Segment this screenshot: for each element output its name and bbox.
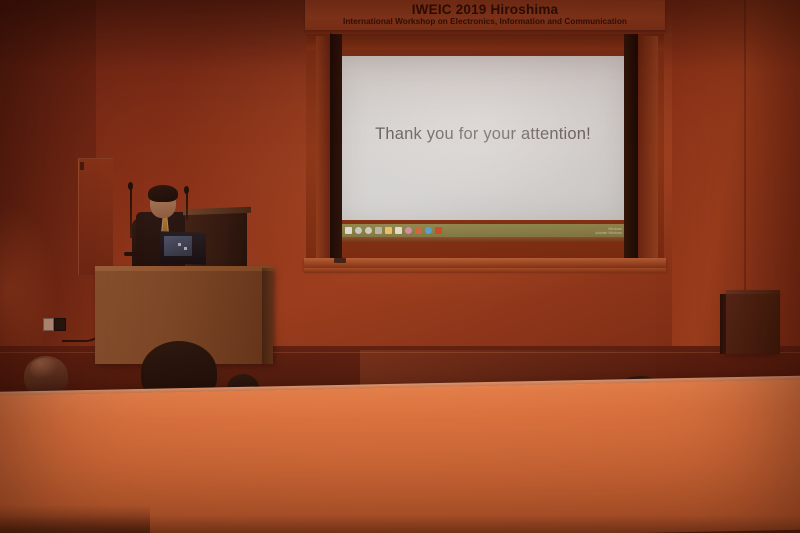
podium-side-shadow	[262, 268, 276, 364]
wall-door-panel	[78, 158, 113, 275]
cortana-search-icon[interactable]	[355, 227, 362, 234]
presenter-hair	[148, 185, 178, 202]
microphone-stem-left	[130, 186, 132, 238]
watermark-line-2: Activate Windows	[595, 231, 622, 235]
windows-taskbar[interactable]: Windows Activate Windows	[342, 224, 624, 237]
microphone-stem-right	[186, 190, 188, 220]
screen-shelf-lip	[304, 268, 666, 273]
browser-icon[interactable]	[425, 227, 432, 234]
task-view-icon[interactable]	[365, 227, 372, 234]
door-hinge	[80, 162, 84, 170]
screen-frame-left	[330, 34, 342, 264]
screen-frame-pillar-right	[638, 36, 658, 262]
floor-cabinet	[726, 292, 780, 354]
microphone-base-left	[124, 252, 138, 256]
cabinet-top-face	[726, 290, 780, 294]
powerpoint-icon[interactable]	[435, 227, 442, 234]
desk-bottom-shadow	[0, 515, 800, 533]
screen-frame-pillar-left	[316, 36, 331, 262]
taskbar-icon-group[interactable]	[342, 227, 442, 234]
screen-housing-top-rail	[306, 34, 664, 50]
podium-top-edge	[95, 266, 273, 271]
mail-icon[interactable]	[375, 227, 382, 234]
acrobat-reader-icon[interactable]	[415, 227, 422, 234]
microphone-head-right	[184, 186, 189, 194]
laptop-screen-highlight	[178, 243, 181, 246]
conference-room-photo: IWEIC 2019 Hiroshima International Works…	[0, 0, 800, 533]
windows-activation-watermark: Windows Activate Windows	[595, 227, 624, 235]
wall-outlet-plate	[43, 318, 54, 331]
media-player-icon[interactable]	[405, 227, 412, 234]
screen-lower-bleed	[342, 237, 624, 242]
banner-subtitle: International Workshop on Electronics, I…	[305, 17, 665, 27]
windows-start-icon[interactable]	[345, 227, 352, 234]
screen-frame-right	[624, 34, 638, 264]
banner-title: IWEIC 2019 Hiroshima	[305, 2, 665, 17]
laptop-screen-highlight	[184, 247, 187, 250]
conference-banner: IWEIC 2019 Hiroshima International Works…	[305, 0, 665, 32]
laptop-screen	[164, 236, 192, 256]
camera-icon[interactable]	[395, 227, 402, 234]
microphone-head-left	[128, 182, 133, 190]
file-explorer-icon[interactable]	[385, 227, 392, 234]
shelf-small-object	[334, 258, 346, 263]
slide-text: Thank you for your attention!	[342, 125, 624, 144]
